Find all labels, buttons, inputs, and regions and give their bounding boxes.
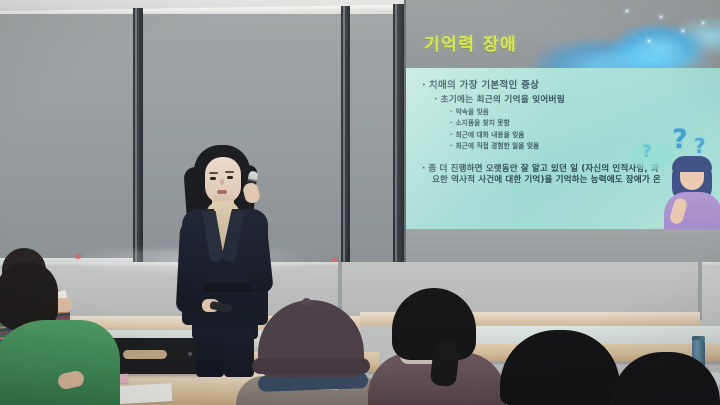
presenter-mouth xyxy=(217,190,227,194)
projection-screen-border xyxy=(404,0,720,292)
presenter-eye-right xyxy=(227,176,233,179)
cap-brim xyxy=(252,358,370,374)
presenter-belt xyxy=(196,283,256,292)
whiteboard-panel-left xyxy=(0,14,134,262)
attendee-body xyxy=(0,320,120,405)
board-rail-2 xyxy=(341,6,350,270)
partition-right xyxy=(340,262,700,318)
board-rail-1 xyxy=(133,8,143,266)
cap-knob xyxy=(302,298,311,306)
whiteboard-panel-narrow xyxy=(348,14,396,268)
magnet-left xyxy=(75,254,81,259)
presenter-eye-left xyxy=(210,177,216,180)
presenter-leg-left xyxy=(196,329,224,377)
chair-handle-slot xyxy=(123,350,167,359)
presenter-leg-right xyxy=(224,329,254,377)
presenter-arm-left xyxy=(176,220,207,313)
ponytail xyxy=(430,339,461,387)
presenter-nose xyxy=(220,179,224,185)
lecture-room-screenshot: 기억력 장애 ·치매의 가장 기본적인 증상 ·초기에는 최근의 기억을 잊어버… xyxy=(0,0,720,405)
